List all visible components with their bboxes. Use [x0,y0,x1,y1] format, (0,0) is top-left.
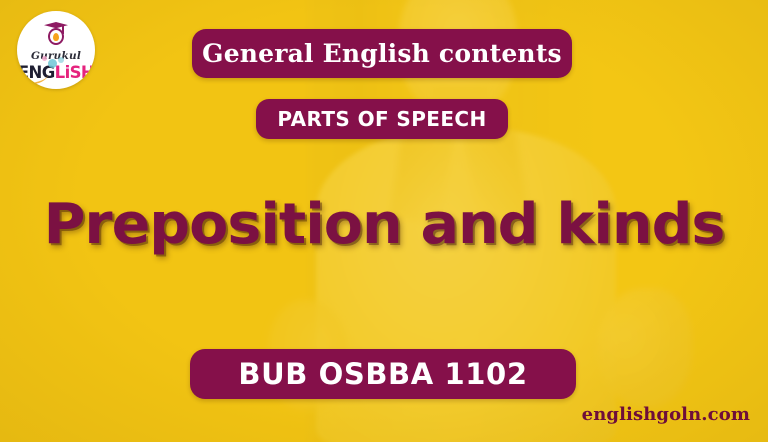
logo-wordmark-part-b: LiSH [55,63,94,82]
logo-drop-icon [53,33,59,41]
banner-top: General English contents [192,29,572,78]
brand-logo[interactable]: Gurukul ENGLiSH [17,11,95,89]
bubble-icon-2 [58,57,64,63]
thumbnail-canvas: Gurukul ENGLiSH General English contents… [0,0,768,442]
graduation-cap-icon [41,22,71,49]
bubble-icon-3 [42,56,47,61]
page-title: Preposition and kinds [0,196,768,255]
banner-course-code: BUB OSBBA 1102 [190,349,576,399]
logo-wordmark: ENGLiSH [18,65,94,82]
site-watermark: englishgoln.com [582,404,750,425]
logo-swoosh-icon [17,67,48,85]
banner-subcategory: PARTS OF SPEECH [256,99,508,139]
bubble-icon-1 [48,59,57,68]
